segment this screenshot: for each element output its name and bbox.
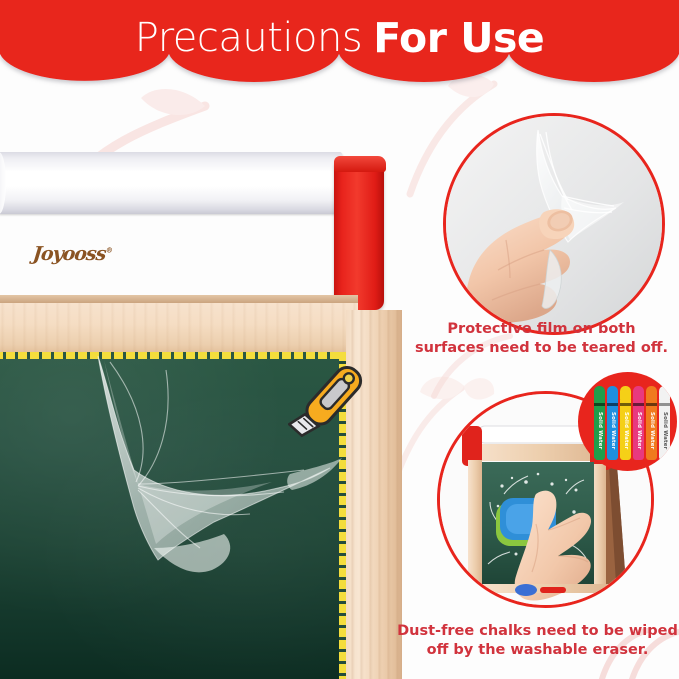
chalk-cap-pink: [633, 386, 644, 401]
caption-dust-free-chalks: Dust-free chalks need to be wiped off by…: [396, 622, 679, 660]
chalk-marker-orange: Solid Water: [646, 386, 657, 460]
chalk-cap-yellow: [620, 386, 631, 401]
paper-roll-end: [0, 152, 6, 214]
chalk-markers-circle: Solid Water Solid Water Solid Water Soli…: [578, 372, 677, 471]
callout-circle-protective-film: [443, 113, 665, 335]
chalk-marker-yellow: Solid Water: [620, 386, 631, 460]
chalk-cap-green: [594, 386, 605, 401]
chalk-label-green: Solid Water: [594, 408, 605, 454]
red-bracket-top: [334, 156, 386, 172]
chalk-label-orange: Solid Water: [646, 408, 657, 454]
page-title-bold: For Use: [373, 14, 544, 62]
page-title: Precautions For Use: [0, 0, 679, 76]
brand-name: Joyooss: [32, 243, 107, 265]
chalk-band-white: [659, 403, 670, 406]
caption-film-line2: surfaces need to be teared off.: [404, 339, 679, 358]
wood-rail: [0, 295, 358, 303]
chalk-cap-blue: [607, 386, 618, 401]
chalk-label-yellow: Solid Water: [620, 408, 631, 454]
chalk-label-blue: Solid Water: [607, 408, 618, 454]
main-product-photo: [0, 152, 406, 679]
hand-peeling-film: [0, 607, 194, 679]
caption-film-line1: Protective film on both: [404, 320, 679, 339]
paper-roll: [0, 152, 346, 214]
page-title-light: Precautions: [135, 15, 362, 61]
wood-grain-texture: [0, 303, 358, 356]
chalk-band-orange: [646, 403, 657, 406]
chalk-marker-blue: Solid Water: [607, 386, 618, 460]
chalk-label-white: Solid Water: [659, 408, 670, 454]
brand-logo: Joyooss®: [32, 243, 114, 265]
chalk-label-pink: Solid Water: [633, 408, 644, 454]
wood-frame-top: [0, 303, 358, 356]
chalk-band-green: [594, 403, 605, 406]
caption-protective-film: Protective film on both surfaces need to…: [404, 320, 679, 358]
header-banner: Precautions For Use: [0, 0, 679, 92]
chalk-cap-white: [659, 386, 670, 401]
film-peel-photo: [446, 116, 662, 332]
chalk-cap-orange: [646, 386, 657, 401]
caption-wipe-line2: off by the washable eraser.: [396, 641, 679, 660]
chalk-band-yellow: [620, 403, 631, 406]
red-bracket: [334, 160, 384, 310]
chalk-band-pink: [633, 403, 644, 406]
chalk-marker-green: Solid Water: [594, 386, 605, 460]
caption-wipe-line1: Dust-free chalks need to be wiped: [396, 622, 679, 641]
brand-trademark: ®: [105, 246, 113, 255]
infographic-page: Precautions For Use: [0, 0, 679, 679]
chalk-marker-pink: Solid Water: [633, 386, 644, 460]
box-cutter-icon: [288, 352, 380, 448]
chalk-marker-white: Solid Water: [659, 386, 670, 460]
chalk-band-blue: [607, 403, 618, 406]
